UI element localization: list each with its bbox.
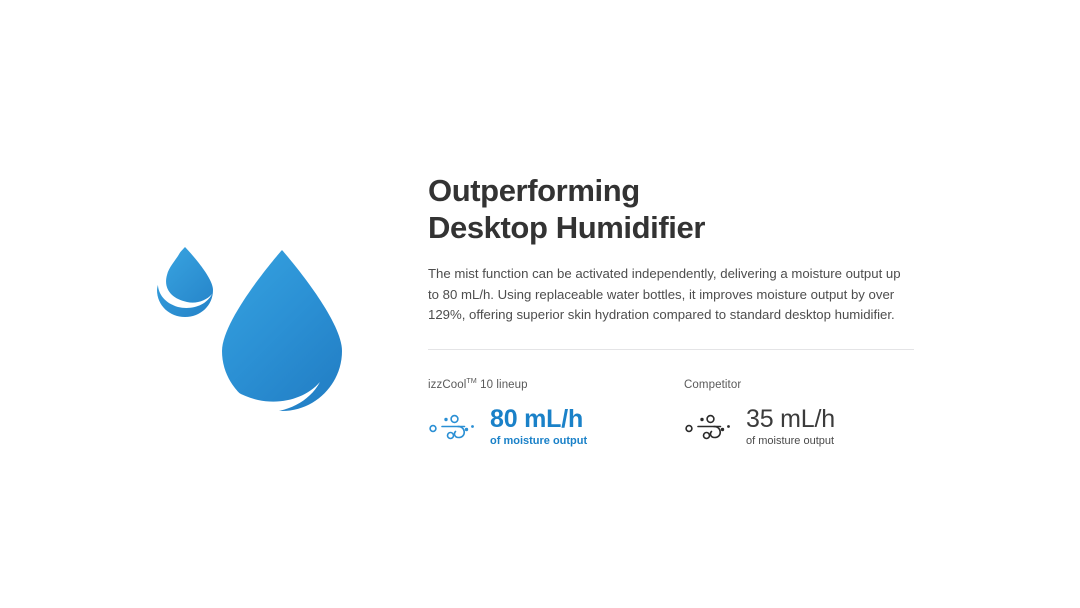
stat-label-izzcool-name: izzCool (428, 379, 466, 391)
stats-comparison-row: izzCoolTM 10 lineup (428, 376, 914, 448)
stat-subtext-izzcool: of moisture output (490, 434, 587, 448)
headline-line-1: Outperforming (428, 172, 914, 209)
stat-subtext-competitor: of moisture output (746, 434, 835, 448)
large-droplet (222, 250, 342, 411)
stat-label-izzcool: izzCoolTM 10 lineup (428, 376, 684, 391)
stat-figures-competitor: 35 mL/h of moisture output (746, 406, 835, 448)
body-paragraph: The mist function can be activated indep… (428, 264, 914, 325)
section-divider (428, 349, 914, 350)
stat-label-izzcool-suffix: 10 lineup (477, 379, 528, 391)
stat-label-competitor: Competitor (684, 376, 940, 391)
stat-value-izzcool: 80 mL/h (490, 406, 587, 433)
trademark-symbol: TM (466, 376, 476, 385)
stat-figures-izzcool: 80 mL/h of moisture output (490, 406, 587, 448)
stat-value-competitor: 35 mL/h (746, 406, 835, 433)
page-title: Outperforming Desktop Humidifier (428, 172, 914, 246)
stat-block-competitor: Competitor (684, 376, 940, 448)
mist-icon (684, 410, 740, 444)
small-droplet (157, 247, 213, 317)
page-root: Outperforming Desktop Humidifier The mis… (0, 0, 1080, 608)
stat-label-competitor-name: Competitor (684, 379, 741, 391)
stat-body-izzcool: 80 mL/h of moisture output (428, 406, 684, 448)
headline-line-2: Desktop Humidifier (428, 209, 914, 246)
stat-block-izzcool: izzCoolTM 10 lineup (428, 376, 684, 448)
mist-icon (428, 410, 484, 444)
content-column: Outperforming Desktop Humidifier The mis… (428, 172, 914, 448)
stat-body-competitor: 35 mL/h of moisture output (684, 406, 940, 448)
water-droplet-illustration (150, 232, 370, 432)
